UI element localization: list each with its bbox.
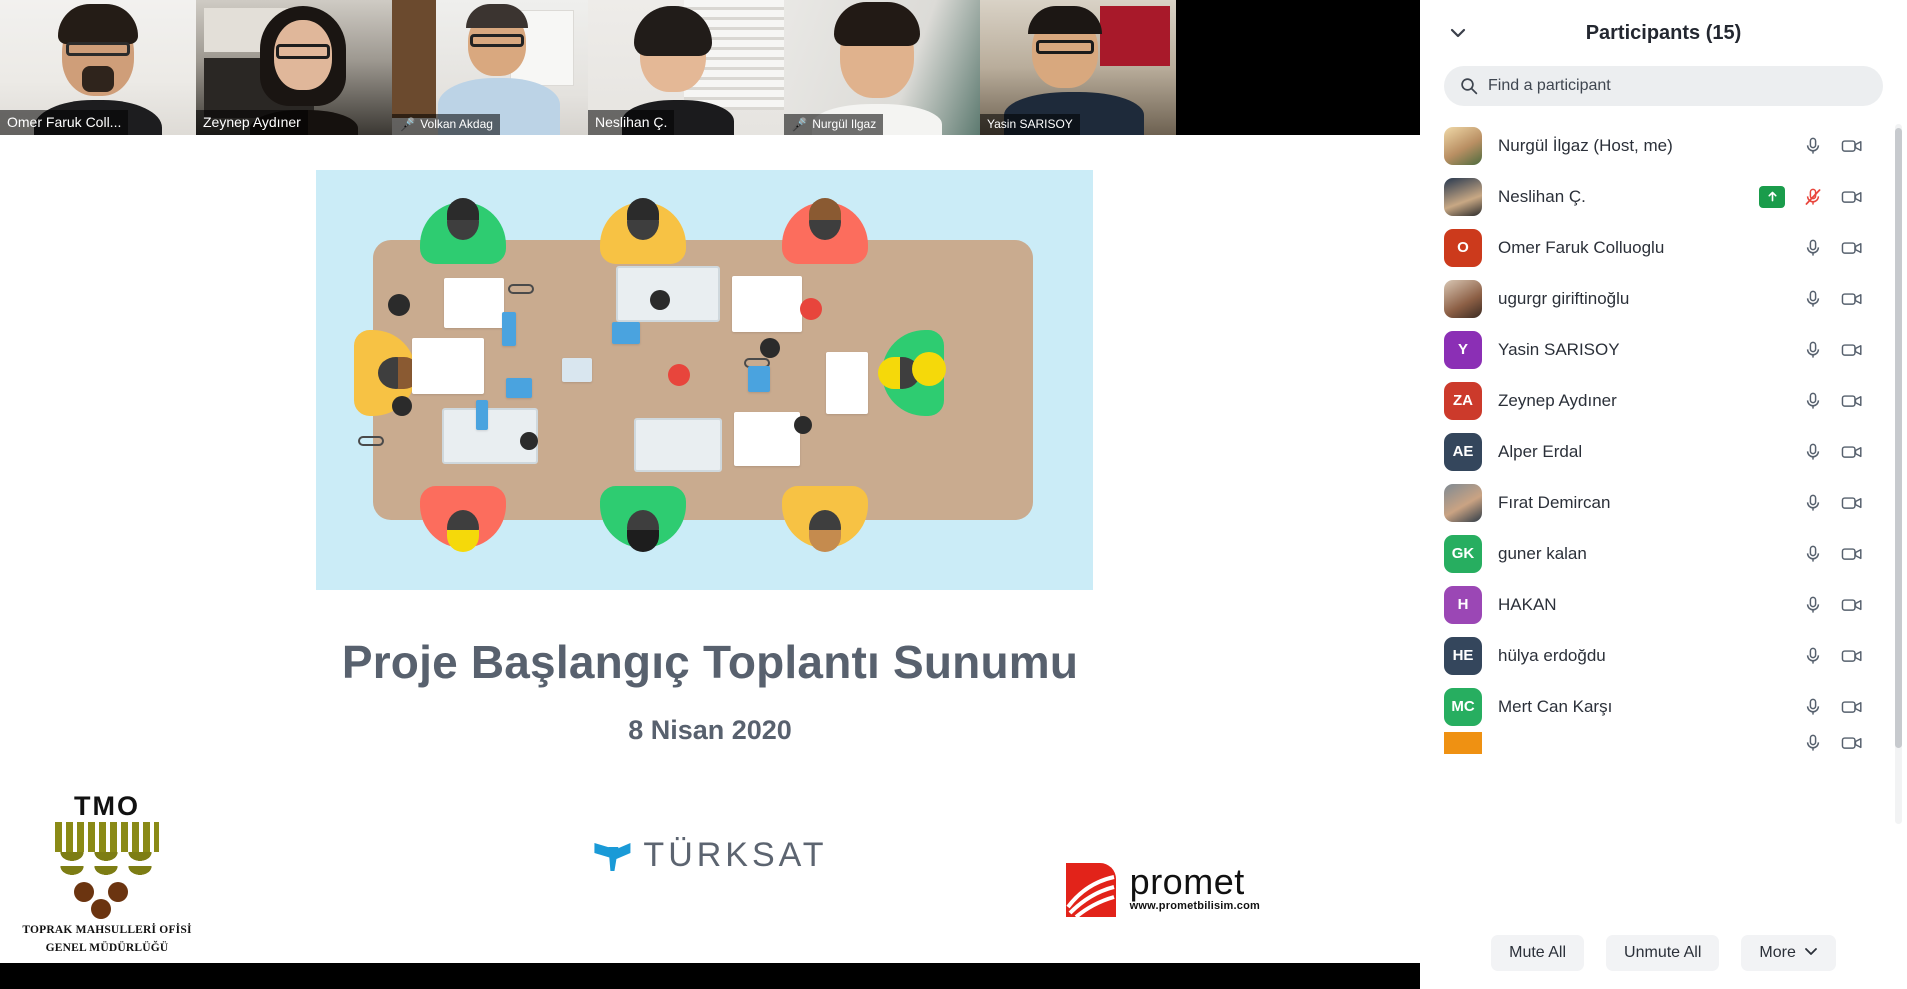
participant-controls bbox=[1803, 136, 1861, 156]
participant-controls bbox=[1803, 733, 1861, 753]
mic-muted-icon: 🎤 bbox=[399, 118, 415, 131]
thumbnail-nametag: 🎤 Nurgül Ilgaz bbox=[784, 114, 883, 135]
avatar bbox=[1444, 484, 1482, 522]
more-button-label: More bbox=[1759, 944, 1795, 962]
tmo-logo: TMO TOPRAK MAHSULLERİ OFİSİ GENEL MÜDÜRL… bbox=[12, 793, 202, 955]
avatar-initials: Y bbox=[1458, 341, 1468, 358]
participant-name: Fırat Demircan bbox=[1498, 493, 1787, 513]
participant-row[interactable]: AE Alper Erdal bbox=[1444, 426, 1907, 477]
promet-mark-icon bbox=[1062, 855, 1122, 921]
video-thumbnail-strip: Omer Faruk Coll... Zeynep Aydıner bbox=[0, 0, 1420, 135]
participant-row[interactable]: HE hülya erdoğdu bbox=[1444, 630, 1907, 681]
participant-controls bbox=[1803, 595, 1861, 615]
participant-row[interactable]: Y Yasin SARISOY bbox=[1444, 324, 1907, 375]
participant-name: Omer Faruk Coll... bbox=[7, 112, 121, 132]
microphone-icon[interactable] bbox=[1803, 697, 1823, 717]
avatar: ZA bbox=[1444, 382, 1482, 420]
participant-row[interactable]: ZA Zeynep Aydıner bbox=[1444, 375, 1907, 426]
zoom-meeting-window: Omer Faruk Coll... Zeynep Aydıner bbox=[0, 0, 1907, 989]
avatar: GK bbox=[1444, 535, 1482, 573]
video-camera-icon[interactable] bbox=[1841, 697, 1861, 717]
avatar-initials: H bbox=[1458, 596, 1469, 613]
participant-row[interactable]: Fırat Demircan bbox=[1444, 477, 1907, 528]
microphone-muted-icon[interactable] bbox=[1803, 187, 1823, 207]
promet-logo: promet www.prometbilisim.com bbox=[1062, 855, 1260, 921]
participant-name: ugurgr giriftinoğlu bbox=[1498, 289, 1787, 309]
video-camera-icon[interactable] bbox=[1841, 493, 1861, 513]
thumbnail-nametag: Zeynep Aydıner bbox=[196, 110, 308, 135]
participant-controls bbox=[1803, 493, 1861, 513]
avatar-initials: AE bbox=[1453, 443, 1474, 460]
participants-panel-header: Participants (15) bbox=[1420, 0, 1907, 66]
thumbnail-nametag: Neslihan Ç. bbox=[588, 110, 674, 135]
participant-name: hülya erdoğdu bbox=[1498, 646, 1787, 666]
participant-row[interactable]: O Omer Faruk Colluoglu bbox=[1444, 222, 1907, 273]
avatar-initials: HE bbox=[1453, 647, 1474, 664]
participants-panel-footer: Mute All Unmute All More bbox=[1420, 917, 1907, 989]
avatar: O bbox=[1444, 229, 1482, 267]
tmo-logo-bars bbox=[55, 822, 159, 852]
participant-name: Volkan Akdag bbox=[420, 116, 493, 132]
participant-controls bbox=[1803, 340, 1861, 360]
microphone-icon[interactable] bbox=[1803, 238, 1823, 258]
microphone-icon[interactable] bbox=[1803, 442, 1823, 462]
mute-all-button[interactable]: Mute All bbox=[1491, 935, 1584, 971]
video-camera-icon[interactable] bbox=[1841, 187, 1861, 207]
tmo-logo-caption-line2: GENEL MÜDÜRLÜĞÜ bbox=[12, 941, 202, 955]
participant-name: Yasin SARISOY bbox=[987, 116, 1073, 132]
participant-controls bbox=[1803, 697, 1861, 717]
participant-name: Neslihan Ç. bbox=[595, 112, 667, 132]
chevron-down-icon[interactable] bbox=[1444, 19, 1472, 47]
participant-name: Yasin SARISOY bbox=[1498, 340, 1787, 360]
slide-illustration bbox=[316, 170, 1093, 590]
microphone-icon[interactable] bbox=[1803, 544, 1823, 564]
avatar bbox=[1444, 280, 1482, 318]
microphone-icon[interactable] bbox=[1803, 646, 1823, 666]
thumbnail-nametag: 🎤 Volkan Akdag bbox=[392, 114, 500, 135]
participant-name: HAKAN bbox=[1498, 595, 1787, 615]
participant-row[interactable]: Nurgül İlgaz (Host, me) bbox=[1444, 120, 1907, 171]
video-thumbnail-active-speaker[interactable]: Zeynep Aydıner bbox=[196, 0, 392, 135]
video-thumbnail[interactable]: 🎤 Volkan Akdag bbox=[392, 0, 588, 135]
participant-name: Nurgül İlgaz (Host, me) bbox=[1498, 136, 1787, 156]
avatar bbox=[1444, 178, 1482, 216]
video-camera-icon[interactable] bbox=[1841, 442, 1861, 462]
turksat-mark-icon bbox=[592, 839, 632, 873]
participant-row[interactable]: ugurgr giriftinoğlu bbox=[1444, 273, 1907, 324]
microphone-icon[interactable] bbox=[1803, 391, 1823, 411]
participants-list[interactable]: Nurgül İlgaz (Host, me) Neslihan Ç. bbox=[1420, 120, 1907, 917]
video-thumbnail[interactable]: Omer Faruk Coll... bbox=[0, 0, 196, 135]
microphone-icon[interactable] bbox=[1803, 136, 1823, 156]
microphone-icon[interactable] bbox=[1803, 289, 1823, 309]
promet-logo-word: promet bbox=[1130, 864, 1260, 900]
video-thumbnail-partial[interactable] bbox=[1176, 0, 1220, 135]
turksat-logo-word: TÜRKSAT bbox=[643, 836, 827, 875]
search-icon bbox=[1460, 77, 1478, 95]
participant-name: Alper Erdal bbox=[1498, 442, 1787, 462]
participant-controls bbox=[1803, 238, 1861, 258]
video-camera-icon[interactable] bbox=[1841, 733, 1861, 753]
shared-screen-slide: Proje Başlangıç Toplantı Sunumu 8 Nisan … bbox=[0, 135, 1420, 963]
avatar: HE bbox=[1444, 637, 1482, 675]
microphone-icon[interactable] bbox=[1803, 340, 1823, 360]
video-camera-icon[interactable] bbox=[1841, 391, 1861, 411]
participant-name: Omer Faruk Colluoglu bbox=[1498, 238, 1787, 258]
participant-controls bbox=[1803, 646, 1861, 666]
microphone-icon[interactable] bbox=[1803, 733, 1823, 753]
participant-name: Zeynep Aydıner bbox=[1498, 391, 1787, 411]
participant-name: Neslihan Ç. bbox=[1498, 187, 1743, 207]
search-input[interactable] bbox=[1444, 66, 1883, 106]
stage-bottom-bar bbox=[0, 963, 1420, 989]
turksat-logo: TÜRKSAT bbox=[592, 836, 827, 875]
promet-logo-url: www.prometbilisim.com bbox=[1130, 900, 1260, 912]
more-button[interactable]: More bbox=[1741, 935, 1835, 971]
meeting-stage: Omer Faruk Coll... Zeynep Aydıner bbox=[0, 0, 1420, 989]
avatar: H bbox=[1444, 586, 1482, 624]
chevron-down-icon bbox=[1804, 944, 1818, 963]
participant-name: Zeynep Aydıner bbox=[203, 112, 301, 132]
video-camera-icon[interactable] bbox=[1841, 544, 1861, 564]
avatar-initials: GK bbox=[1452, 545, 1475, 562]
participant-controls bbox=[1803, 391, 1861, 411]
video-camera-icon[interactable] bbox=[1841, 238, 1861, 258]
tmo-logo-caption-line1: TOPRAK MAHSULLERİ OFİSİ bbox=[12, 923, 202, 937]
panel-title: Participants (15) bbox=[1420, 22, 1907, 45]
video-camera-icon[interactable] bbox=[1841, 595, 1861, 615]
participants-scrollbar-thumb[interactable] bbox=[1895, 128, 1902, 748]
mic-muted-icon: 🎤 bbox=[791, 118, 807, 131]
slide-date: 8 Nisan 2020 bbox=[0, 715, 1420, 746]
participant-row[interactable]: GK guner kalan bbox=[1444, 528, 1907, 579]
participant-row-partial[interactable] bbox=[1444, 732, 1907, 754]
participant-name: Mert Can Karşı bbox=[1498, 697, 1787, 717]
avatar bbox=[1444, 732, 1482, 754]
participant-controls bbox=[1803, 442, 1861, 462]
microphone-icon[interactable] bbox=[1803, 493, 1823, 513]
video-thumbnail[interactable]: Neslihan Ç. bbox=[588, 0, 784, 135]
participant-name: Nurgül Ilgaz bbox=[812, 116, 876, 132]
slide-title: Proje Başlangıç Toplantı Sunumu bbox=[0, 635, 1420, 689]
search-field-wrapper bbox=[1444, 66, 1883, 106]
tmo-logo-word: TMO bbox=[12, 793, 202, 820]
video-camera-icon[interactable] bbox=[1841, 340, 1861, 360]
participant-row[interactable]: H HAKAN bbox=[1444, 579, 1907, 630]
video-camera-icon[interactable] bbox=[1841, 289, 1861, 309]
participant-controls bbox=[1759, 186, 1861, 208]
video-camera-icon[interactable] bbox=[1841, 136, 1861, 156]
avatar: AE bbox=[1444, 433, 1482, 471]
microphone-icon[interactable] bbox=[1803, 595, 1823, 615]
video-thumbnail[interactable]: 🎤 Nurgül Ilgaz bbox=[784, 0, 980, 135]
avatar: Y bbox=[1444, 331, 1482, 369]
avatar bbox=[1444, 127, 1482, 165]
unmute-all-button[interactable]: Unmute All bbox=[1606, 935, 1719, 971]
avatar: MC bbox=[1444, 688, 1482, 726]
video-camera-icon[interactable] bbox=[1841, 646, 1861, 666]
avatar-initials: ZA bbox=[1453, 392, 1473, 409]
participant-row[interactable]: Neslihan Ç. bbox=[1444, 171, 1907, 222]
thumbnail-nametag: Yasin SARISOY bbox=[980, 114, 1080, 135]
video-thumbnail[interactable]: Yasin SARISOY bbox=[980, 0, 1176, 135]
thumbnail-nametag: Omer Faruk Coll... bbox=[0, 110, 128, 135]
tmo-logo-wheat bbox=[55, 852, 159, 880]
avatar-initials: MC bbox=[1451, 698, 1474, 715]
participant-controls bbox=[1803, 544, 1861, 564]
participant-controls bbox=[1803, 289, 1861, 309]
participant-name: guner kalan bbox=[1498, 544, 1787, 564]
participant-row[interactable]: MC Mert Can Karşı bbox=[1444, 681, 1907, 732]
tmo-logo-grapes bbox=[72, 882, 142, 920]
raise-hand-badge-icon[interactable] bbox=[1759, 186, 1785, 208]
participants-panel: Participants (15) Nurgül İlgaz (Host, me… bbox=[1420, 0, 1907, 989]
avatar-initials: O bbox=[1457, 239, 1469, 256]
